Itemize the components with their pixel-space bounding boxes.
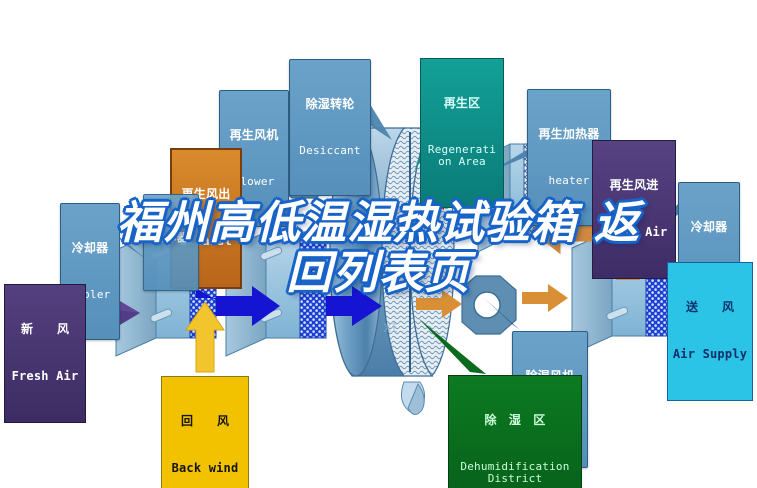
diagram-canvas: xt <box>0 0 757 488</box>
label-air-supply[interactable]: 送 风 Air Supply <box>667 262 753 401</box>
arrow-dehum-orange-2 <box>522 284 568 312</box>
label-fresh-air-right-cn: 再生风进 <box>596 179 672 192</box>
label-back-wind-en: Back wind <box>165 462 245 475</box>
label-air-supply-en: Air Supply <box>670 348 750 361</box>
label-air-supply-cn: 送 风 <box>670 301 750 314</box>
label-back-wind[interactable]: 回 风 Back wind <box>161 376 249 488</box>
svg-text:xt: xt <box>383 318 398 336</box>
label-back-wind-cn: 回 风 <box>165 415 245 428</box>
label-dehumidification-district-cn: 除 湿 区 <box>452 414 578 427</box>
label-regeneration-area-en: Regenerati on Area <box>423 144 501 168</box>
label-cooler-right-cn: 冷却器 <box>681 221 737 234</box>
label-cooler-left-secondary-cn: 冷却器 <box>146 232 196 244</box>
label-regeneration-blower-cn: 再生风机 <box>222 129 286 142</box>
label-dehumidification-district[interactable]: 除 湿 区 Dehumidification District <box>448 375 582 488</box>
label-fresh-air-left-cn: 新 风 <box>8 323 82 336</box>
dehumidification-blower-unit <box>462 276 516 334</box>
label-desiccant[interactable]: 除湿转轮 Desiccant <box>289 59 371 196</box>
label-fresh-air-left[interactable]: 新 风 Fresh Air <box>4 284 86 423</box>
label-fresh-air-right-en: Fresh Air <box>596 226 672 239</box>
label-desiccant-en: Desiccant <box>292 145 368 157</box>
label-desiccant-cn: 除湿转轮 <box>292 98 368 111</box>
label-fresh-air-left-en: Fresh Air <box>8 370 82 383</box>
label-cooler-left-cn: 冷却器 <box>63 242 117 255</box>
label-regeneration-area[interactable]: 再生区 Regenerati on Area <box>420 58 504 208</box>
label-fresh-air-right[interactable]: 再生风进 Fresh Air <box>592 140 676 279</box>
label-cooler-left-secondary[interactable]: 冷却器 <box>143 194 199 291</box>
label-regeneration-area-cn: 再生区 <box>423 97 501 110</box>
label-regeneration-heater-cn: 再生加热器 <box>530 128 608 141</box>
label-dehumidification-district-en: Dehumidification District <box>452 461 578 485</box>
